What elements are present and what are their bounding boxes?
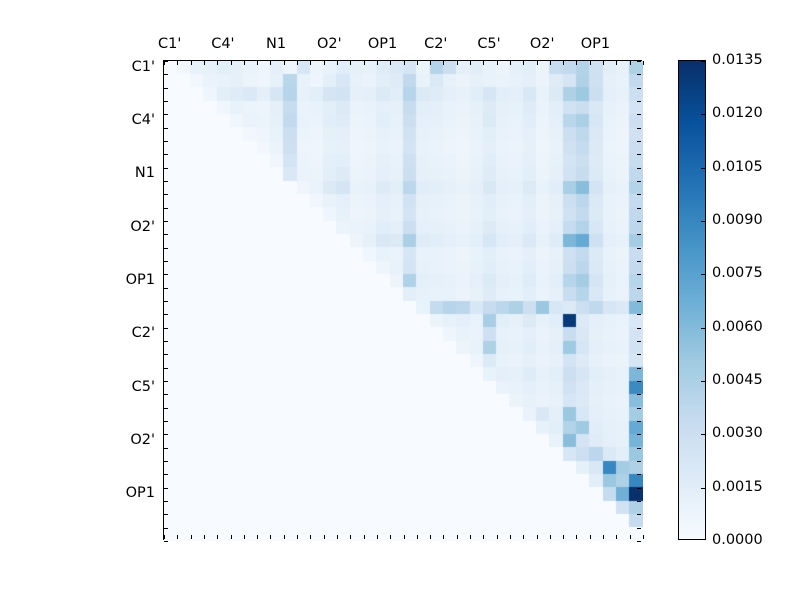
x-tick-mark [497, 61, 498, 65]
y-tick-mark [164, 301, 168, 302]
y-tick-mark [164, 474, 168, 475]
x-tick-label: OP1 [368, 36, 397, 52]
x-tick-mark [550, 535, 551, 539]
x-tick-mark [191, 61, 192, 65]
x-tick-mark [390, 535, 391, 539]
colorbar-tick-label: 0.0135 [712, 52, 763, 68]
x-tick-mark [590, 535, 591, 539]
x-tick-mark [443, 61, 444, 65]
y-tick-mark [164, 488, 168, 489]
y-tick-mark [637, 448, 641, 449]
y-tick-mark [637, 434, 641, 435]
heatmap-cells[interactable] [164, 61, 643, 541]
x-tick-mark [510, 61, 511, 65]
y-tick-mark [164, 74, 168, 75]
y-tick-mark [637, 368, 641, 369]
y-tick-mark [164, 528, 168, 529]
x-tick-mark [417, 535, 418, 539]
y-tick-mark [637, 101, 641, 102]
y-tick-mark [637, 248, 641, 249]
x-tick-mark [204, 61, 205, 65]
colorbar-tick-label: 0.0120 [712, 105, 763, 121]
y-tick-mark [637, 154, 641, 155]
y-tick-mark [637, 301, 641, 302]
y-tick-mark [164, 314, 168, 315]
x-tick-mark [616, 61, 617, 65]
x-tick-mark [177, 535, 178, 539]
colorbar-tick-mark [701, 114, 705, 115]
x-tick-mark [310, 61, 311, 65]
y-tick-mark [637, 208, 641, 209]
x-tick-mark [523, 61, 524, 65]
y-tick-mark [637, 394, 641, 395]
y-tick-mark [164, 408, 168, 409]
y-tick-mark [637, 261, 641, 262]
y-tick-label: C4' [111, 112, 155, 128]
x-tick-mark [377, 61, 378, 65]
x-tick-mark [164, 535, 165, 539]
x-tick-label: O2' [530, 36, 555, 52]
colorbar-bar [678, 60, 706, 540]
y-tick-mark [637, 421, 641, 422]
colorbar-tick-label: 0.0090 [712, 212, 763, 228]
x-tick-mark [350, 535, 351, 539]
y-tick-mark [637, 488, 641, 489]
y-tick-mark [164, 354, 168, 355]
y-tick-mark [164, 501, 168, 502]
y-tick-mark [637, 328, 641, 329]
x-tick-mark [191, 535, 192, 539]
y-tick-mark [164, 221, 168, 222]
y-tick-label: C1' [111, 59, 155, 75]
y-tick-mark [164, 434, 168, 435]
y-tick-mark [164, 328, 168, 329]
colorbar-tick-mark [701, 168, 705, 169]
y-tick-mark [164, 341, 168, 342]
figure-canvas: C1'C4'N1O2'OP1C2'C5'O2'OP1 C1'C4'N1O2'OP… [0, 0, 800, 600]
x-tick-mark [270, 535, 271, 539]
y-tick-mark [164, 461, 168, 462]
y-tick-mark [164, 448, 168, 449]
x-tick-mark [643, 535, 644, 539]
x-axis-tick-labels: C1'C4'N1O2'OP1C2'C5'O2'OP1 [163, 0, 642, 60]
y-tick-mark [637, 128, 641, 129]
y-tick-mark [637, 114, 641, 115]
x-tick-mark [483, 535, 484, 539]
x-tick-mark [603, 535, 604, 539]
y-tick-mark [164, 234, 168, 235]
y-tick-label: OP1 [111, 272, 155, 288]
colorbar-tick-label: 0.0075 [712, 265, 763, 281]
x-tick-label: C2' [424, 36, 447, 52]
colorbar-tick-label: 0.0105 [712, 159, 763, 175]
y-tick-mark [164, 208, 168, 209]
y-tick-mark [164, 61, 168, 62]
y-tick-mark [637, 474, 641, 475]
y-tick-mark [637, 221, 641, 222]
colorbar-legend: 0.00000.00150.00300.00450.00600.00750.00… [678, 60, 706, 540]
y-tick-mark [164, 394, 168, 395]
y-tick-mark [164, 421, 168, 422]
y-tick-mark [164, 141, 168, 142]
x-tick-mark [364, 61, 365, 65]
x-tick-mark [616, 535, 617, 539]
x-tick-mark [244, 61, 245, 65]
x-tick-mark [350, 61, 351, 65]
x-tick-mark [590, 61, 591, 65]
y-tick-mark [164, 154, 168, 155]
x-tick-mark [457, 535, 458, 539]
x-tick-mark [297, 61, 298, 65]
y-tick-mark [637, 408, 641, 409]
x-tick-mark [231, 535, 232, 539]
y-tick-mark [164, 181, 168, 182]
y-tick-mark [164, 114, 168, 115]
x-tick-mark [310, 535, 311, 539]
colorbar-tick-mark [701, 488, 705, 489]
y-tick-mark [637, 514, 641, 515]
y-axis-tick-labels: C1'C4'N1O2'OP1C2'C5'O2'OP1 [107, 60, 155, 540]
colorbar-tick-label: 0.0030 [712, 425, 763, 441]
x-tick-mark [576, 61, 577, 65]
x-tick-mark [297, 535, 298, 539]
x-tick-mark [390, 61, 391, 65]
y-tick-label: C2' [111, 325, 155, 341]
x-tick-mark [337, 61, 338, 65]
y-tick-mark [164, 248, 168, 249]
colorbar-tick-mark [701, 274, 705, 275]
x-tick-mark [630, 61, 631, 65]
y-tick-label: N1 [111, 165, 155, 181]
y-tick-mark [637, 288, 641, 289]
x-tick-mark [217, 61, 218, 65]
x-tick-mark [430, 535, 431, 539]
colorbar-tick-label: 0.0015 [712, 479, 763, 495]
y-tick-mark [164, 88, 168, 89]
x-tick-mark [563, 535, 564, 539]
x-tick-mark [470, 61, 471, 65]
y-tick-mark [637, 61, 641, 62]
x-tick-mark [643, 61, 644, 65]
y-tick-mark [164, 288, 168, 289]
y-tick-mark [637, 194, 641, 195]
x-tick-mark [537, 535, 538, 539]
y-tick-mark [637, 461, 641, 462]
y-tick-mark [164, 274, 168, 275]
colorbar-tick-label: 0.0045 [712, 372, 763, 388]
x-tick-mark [364, 535, 365, 539]
x-tick-mark [576, 535, 577, 539]
x-tick-mark [470, 535, 471, 539]
colorbar-tick-mark [701, 61, 705, 62]
x-tick-mark [630, 535, 631, 539]
x-tick-mark [510, 535, 511, 539]
y-tick-label: O2' [111, 219, 155, 235]
x-tick-mark [537, 61, 538, 65]
x-tick-label: C1' [158, 36, 181, 52]
y-tick-mark [637, 168, 641, 169]
x-tick-mark [550, 61, 551, 65]
x-tick-mark [257, 61, 258, 65]
colorbar-tick-label: 0.0060 [712, 319, 763, 335]
y-tick-mark [637, 314, 641, 315]
y-tick-mark [164, 514, 168, 515]
x-tick-mark [204, 535, 205, 539]
y-tick-mark [637, 234, 641, 235]
x-tick-mark [404, 535, 405, 539]
colorbar-gradient [679, 61, 705, 539]
x-tick-label: C5' [477, 36, 500, 52]
x-tick-mark [284, 61, 285, 65]
y-tick-label: O2' [111, 432, 155, 448]
x-tick-label: C4' [211, 36, 234, 52]
y-tick-mark [637, 88, 641, 89]
y-tick-mark [164, 194, 168, 195]
x-tick-mark [430, 61, 431, 65]
y-tick-mark [164, 168, 168, 169]
x-tick-mark [257, 535, 258, 539]
x-tick-label: O2' [317, 36, 342, 52]
x-tick-mark [603, 61, 604, 65]
y-tick-mark [637, 541, 641, 542]
y-tick-mark [637, 274, 641, 275]
x-tick-mark [324, 535, 325, 539]
x-tick-mark [404, 61, 405, 65]
colorbar-tick-mark [701, 381, 705, 382]
y-tick-mark [637, 141, 641, 142]
y-tick-mark [637, 341, 641, 342]
heatmap-plot-area[interactable] [163, 60, 642, 540]
colorbar-tick-mark [701, 434, 705, 435]
y-tick-mark [164, 101, 168, 102]
colorbar-tick-label: 0.0000 [712, 532, 763, 548]
y-tick-mark [637, 181, 641, 182]
x-tick-mark [284, 535, 285, 539]
x-tick-mark [324, 61, 325, 65]
y-tick-mark [164, 368, 168, 369]
y-tick-mark [637, 528, 641, 529]
x-tick-mark [563, 61, 564, 65]
x-tick-mark [231, 61, 232, 65]
y-tick-label: OP1 [111, 485, 155, 501]
x-tick-mark [523, 535, 524, 539]
x-tick-mark [457, 61, 458, 65]
y-tick-mark [637, 354, 641, 355]
x-tick-mark [270, 61, 271, 65]
x-tick-label: OP1 [581, 36, 610, 52]
y-tick-mark [637, 74, 641, 75]
y-tick-mark [164, 261, 168, 262]
x-tick-mark [337, 535, 338, 539]
colorbar-tick-mark [701, 221, 705, 222]
y-tick-label: C5' [111, 379, 155, 395]
x-tick-mark [377, 535, 378, 539]
x-tick-label: N1 [266, 36, 286, 52]
y-tick-mark [637, 381, 641, 382]
x-tick-mark [417, 61, 418, 65]
x-tick-mark [244, 535, 245, 539]
x-tick-mark [217, 535, 218, 539]
x-tick-mark [177, 61, 178, 65]
y-tick-mark [637, 501, 641, 502]
x-tick-mark [483, 61, 484, 65]
x-tick-mark [497, 535, 498, 539]
x-tick-mark [443, 535, 444, 539]
y-tick-mark [164, 128, 168, 129]
y-tick-mark [164, 541, 168, 542]
y-tick-mark [164, 381, 168, 382]
colorbar-tick-mark [701, 328, 705, 329]
